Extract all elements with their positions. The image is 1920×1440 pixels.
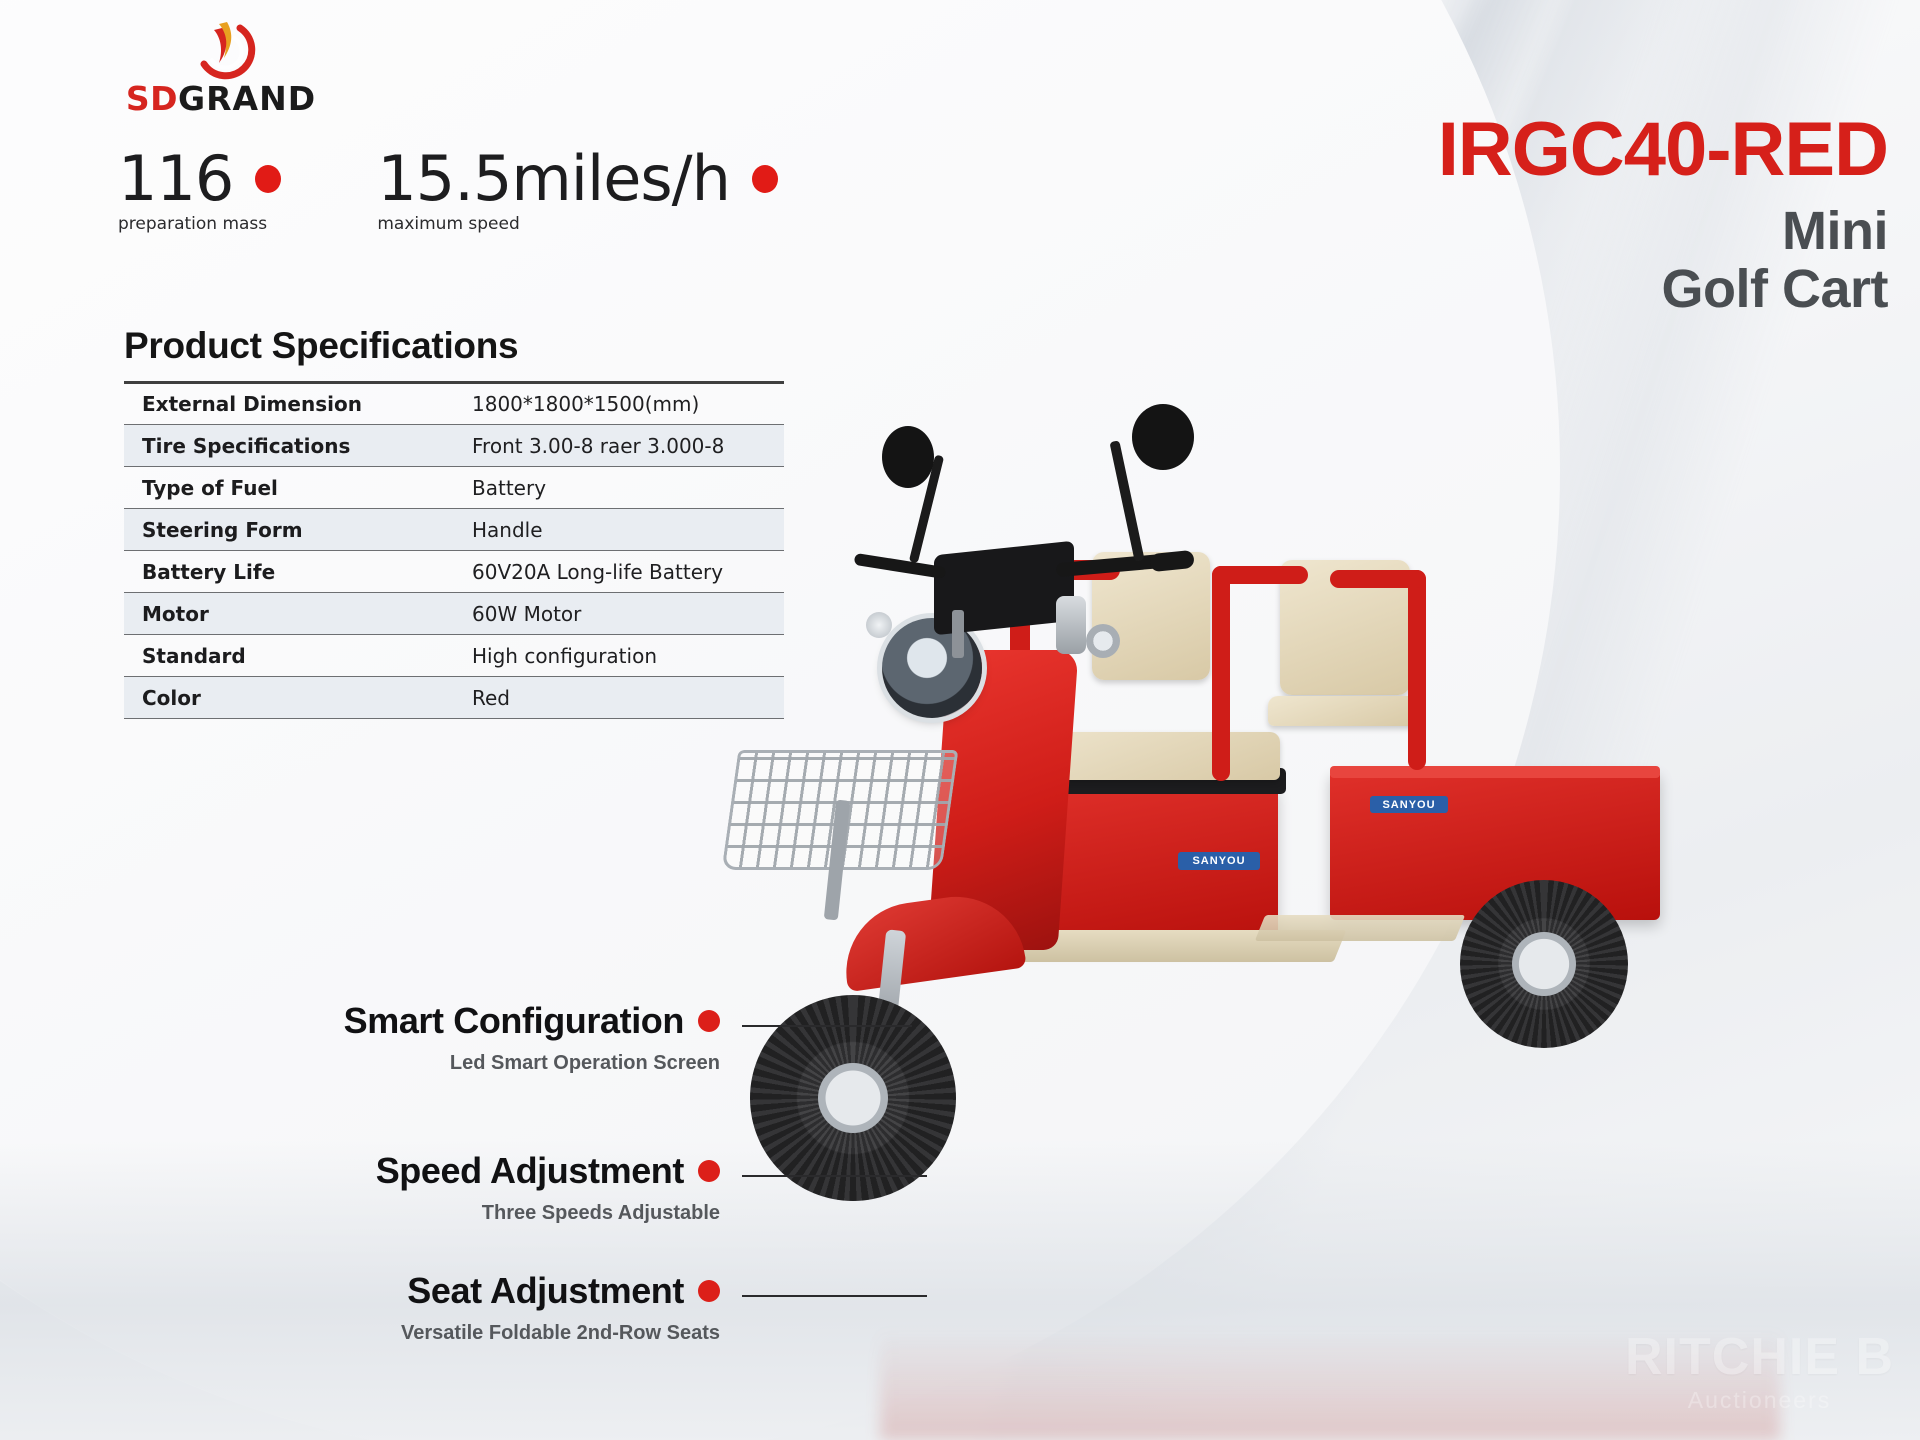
stat-value-row: 116 <box>118 150 281 209</box>
table-row: Type of Fuel Battery <box>124 467 784 509</box>
stat-label: maximum speed <box>377 214 778 234</box>
callout-heading-row: Speed Adjustment <box>340 1150 720 1192</box>
product-specifications-section: Product Specifications External Dimensio… <box>124 325 784 719</box>
specifications-table: External Dimension 1800*1800*1500(mm) Ti… <box>124 381 784 719</box>
callout-heading-row: Smart Configuration <box>300 1000 720 1042</box>
watermark-main-text: RITCHIE B <box>1625 1331 1894 1383</box>
headline-stats: 116 preparation mass 15.5miles/h maximum… <box>118 150 778 234</box>
dash-mount <box>952 610 964 658</box>
product-subtitle-line1: Mini <box>1438 202 1888 260</box>
callout-dot-icon <box>698 1160 720 1182</box>
spec-key: Steering Form <box>124 509 454 551</box>
spec-key: Color <box>124 677 454 719</box>
handlebar-left <box>854 553 947 579</box>
horn-disc <box>1086 624 1120 658</box>
spec-value: Battery <box>454 467 784 509</box>
callout-subtitle: Led Smart Operation Screen <box>300 1052 720 1075</box>
callout-title: Seat Adjustment <box>407 1270 684 1312</box>
stat-maximum-speed: 15.5miles/h maximum speed <box>377 150 778 234</box>
vehicle-badge-side: SANYOU <box>1178 852 1260 870</box>
feature-callout-seat-adjustment: Seat Adjustment Versatile Foldable 2nd-R… <box>340 1270 720 1345</box>
callout-subtitle: Three Speeds Adjustable <box>340 1202 720 1225</box>
feature-callout-speed-adjustment: Speed Adjustment Three Speeds Adjustable <box>340 1150 720 1225</box>
table-row: Battery Life 60V20A Long-life Battery <box>124 551 784 593</box>
spec-value: 60W Motor <box>454 593 784 635</box>
seat-grab-rail-rear-top <box>1212 566 1308 584</box>
spec-value: Handle <box>454 509 784 551</box>
rear-frame-rail-top <box>1330 570 1426 588</box>
product-title-block: IRGC40-RED Mini Golf Cart <box>1438 112 1888 319</box>
section-heading: Product Specifications <box>124 325 784 367</box>
spec-value: High configuration <box>454 635 784 677</box>
auction-watermark: RITCHIE B Auctioneers <box>1625 1331 1894 1414</box>
stat-value: 15.5miles/h <box>377 150 730 209</box>
logo-sd-text: SD <box>126 79 178 118</box>
mirror-head-right <box>1132 404 1194 470</box>
spec-value: Red <box>454 677 784 719</box>
callout-heading-row: Seat Adjustment <box>340 1270 720 1312</box>
table-row: Color Red <box>124 677 784 719</box>
callout-title: Speed Adjustment <box>376 1150 684 1192</box>
stat-dot-icon <box>752 165 778 193</box>
table-row: Tire Specifications Front 3.00-8 raer 3.… <box>124 425 784 467</box>
watermark-sub-text: Auctioneers <box>1625 1387 1894 1414</box>
spec-key: Type of Fuel <box>124 467 454 509</box>
logo-grand-text: GRAND <box>178 79 316 118</box>
brand-logo: SDGRAND <box>106 18 336 115</box>
spec-key: Battery Life <box>124 551 454 593</box>
foot-deck-rear <box>1255 915 1466 941</box>
callout-dot-icon <box>698 1280 720 1302</box>
spec-key: Motor <box>124 593 454 635</box>
cargo-bed-top-edge <box>1330 766 1660 778</box>
product-model-name: IRGC40-RED <box>1438 112 1888 188</box>
seat-grab-rail-rear <box>1212 566 1230 781</box>
table-row: Steering Form Handle <box>124 509 784 551</box>
feature-callout-smart-configuration: Smart Configuration Led Smart Operation … <box>300 1000 720 1075</box>
mirror-head-left <box>882 426 934 488</box>
spec-value: 60V20A Long-life Battery <box>454 551 784 593</box>
logo-wordmark: SDGRAND <box>106 82 336 115</box>
headlight <box>882 618 982 718</box>
product-subtitle-line2: Golf Cart <box>1438 260 1888 318</box>
callout-leader-line <box>742 1295 927 1297</box>
stat-dot-icon <box>255 165 281 193</box>
rear-wheel <box>1460 880 1628 1048</box>
flame-swoosh-icon <box>182 18 260 80</box>
poster-canvas: SANYOU SANYOU SDGRAND 116 preparation ma… <box>0 0 1920 1440</box>
vehicle-badge-rear: SANYOU <box>1370 796 1448 813</box>
callout-leader-line <box>742 1025 912 1027</box>
spec-value: Front 3.00-8 raer 3.000-8 <box>454 425 784 467</box>
spec-value: 1800*1800*1500(mm) <box>454 383 784 425</box>
table-row: Standard High configuration <box>124 635 784 677</box>
key-barrel <box>1056 596 1086 654</box>
turn-signal-left <box>866 612 892 638</box>
stat-preparation-mass: 116 preparation mass <box>118 150 281 234</box>
stat-value: 116 <box>118 150 233 209</box>
callout-leader-line <box>742 1175 927 1177</box>
spec-key: Standard <box>124 635 454 677</box>
rear-wheel-hub <box>1512 932 1576 996</box>
spec-key: Tire Specifications <box>124 425 454 467</box>
table-row: External Dimension 1800*1800*1500(mm) <box>124 383 784 425</box>
rear-frame-rail <box>1408 570 1426 770</box>
spec-key: External Dimension <box>124 383 454 425</box>
callout-subtitle: Versatile Foldable 2nd-Row Seats <box>340 1322 720 1345</box>
table-row: Motor 60W Motor <box>124 593 784 635</box>
callout-dot-icon <box>698 1010 720 1032</box>
front-wheel-hub <box>818 1063 888 1133</box>
stat-label: preparation mass <box>118 214 281 234</box>
stat-value-row: 15.5miles/h <box>377 150 778 209</box>
rear-seat-cushion <box>1268 696 1418 726</box>
vehicle-illustration: SANYOU SANYOU <box>860 500 1890 1380</box>
callout-title: Smart Configuration <box>344 1000 684 1042</box>
